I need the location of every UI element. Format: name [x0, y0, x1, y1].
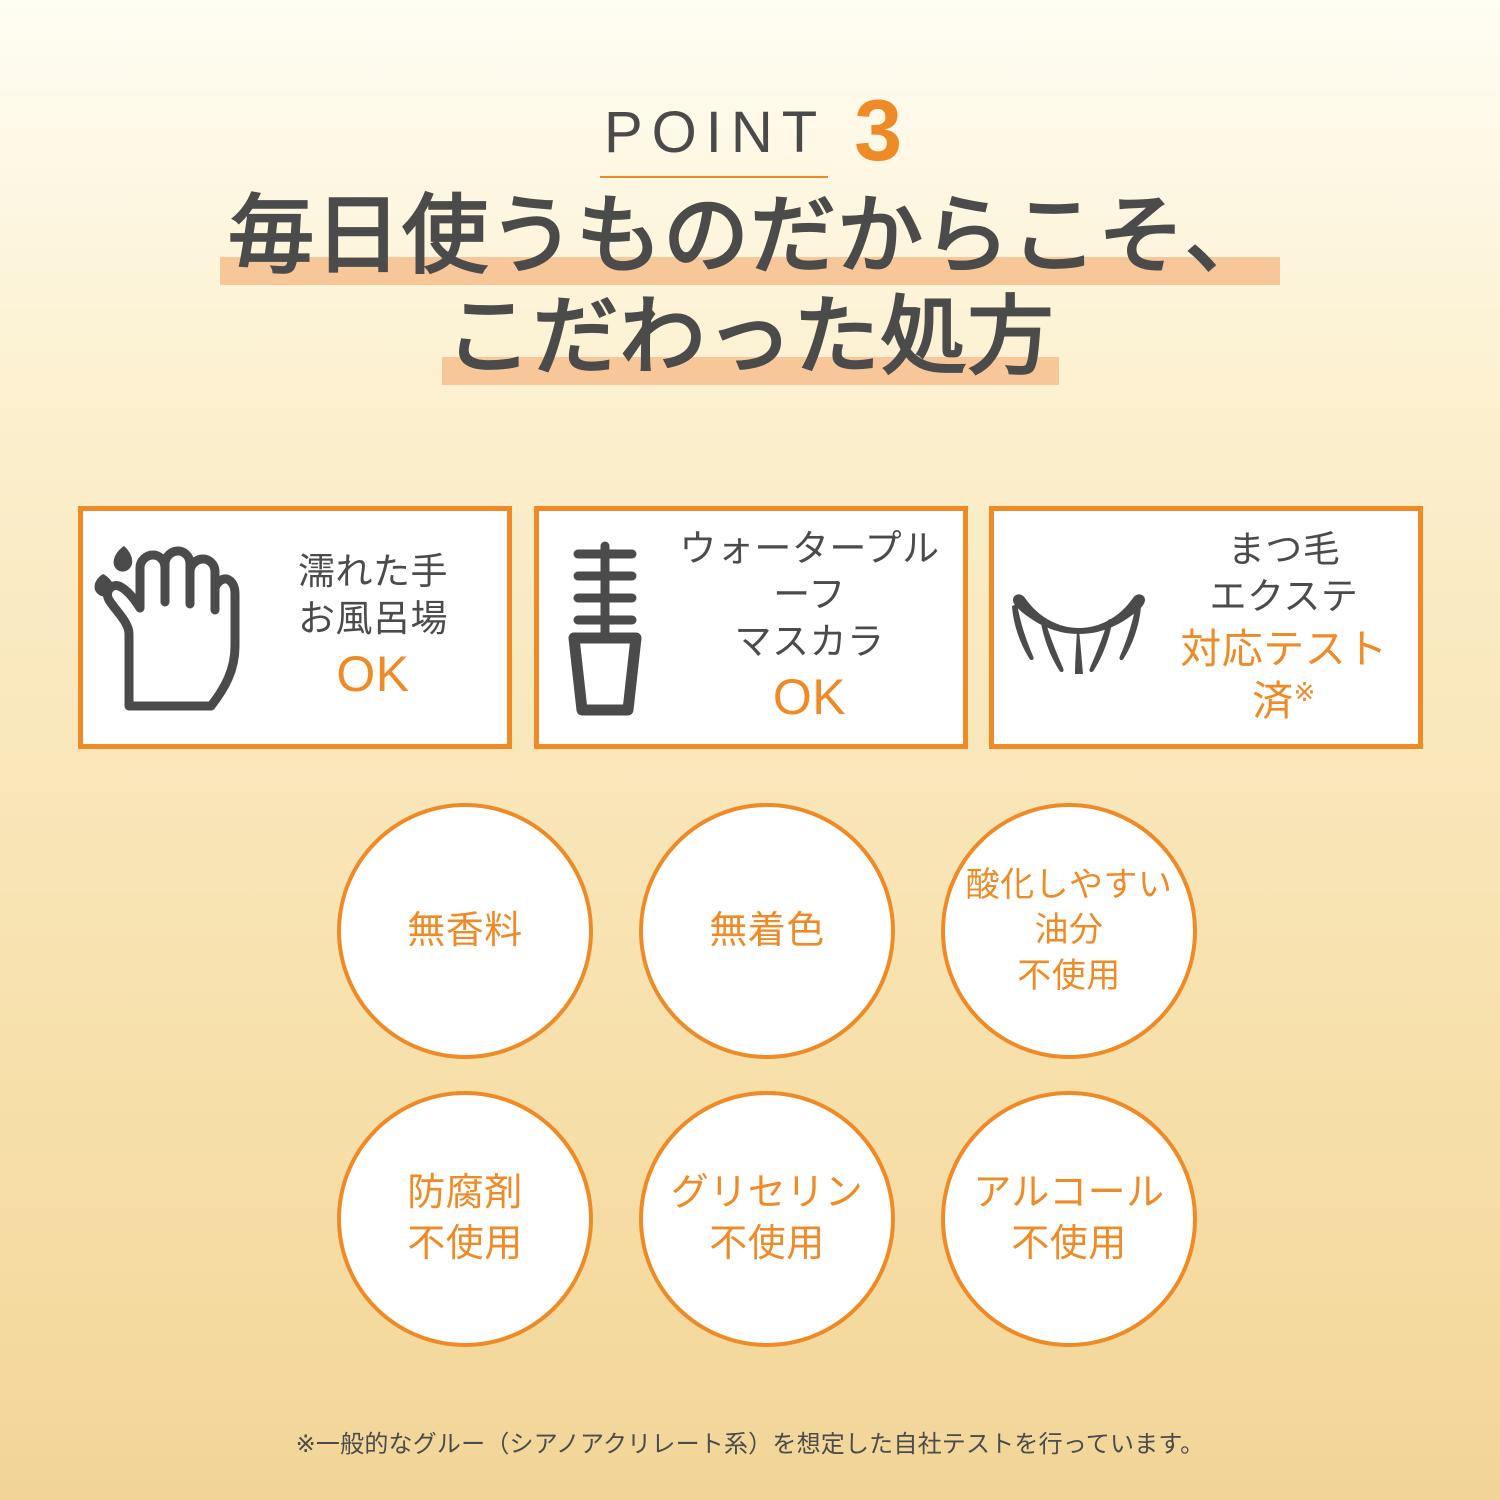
poster-canvas: POINT3 毎日使うものだからこそ、 こだわった処方 [0, 0, 1500, 1500]
footnote-text: ※一般的なグルー（シアノアクリレート系）を想定した自社テストを行っています。 [0, 1424, 1500, 1459]
footnote-marker: ※ [1294, 677, 1316, 707]
page-title: 毎日使うものだからこそ、 こだわった処方 [0, 186, 1500, 387]
feature-line-1: 濡れた手 [253, 549, 493, 596]
feature-box-waterproof-mascara: ウォータープルーフ マスカラ OK [534, 506, 968, 749]
circle-label: 無着色 [709, 906, 825, 957]
circle-colorant-free: 無着色 [639, 803, 895, 1059]
eyelash-icon [994, 582, 1164, 674]
circle-line: 不使用 [966, 954, 1173, 999]
circle-label: 無香料 [407, 906, 523, 957]
circle-glycerin-free: グリセリン 不使用 [639, 1091, 895, 1347]
headline-line-2: こだわった処方 [0, 287, 1500, 388]
feature-line-1: まつ毛 [1164, 527, 1404, 574]
feature-line-1: ウォータープルーフ [671, 526, 949, 619]
free-from-circle-grid: 無香料 無着色 酸化しやすい 油分 不使用 防腐剤 不使用 グリセリン [337, 803, 1197, 1343]
circle-line: 不使用 [973, 1219, 1164, 1270]
feature-box-eyelash-extension: まつ毛 エクステ 対応テスト済※ [989, 506, 1423, 749]
circle-label: アルコール 不使用 [973, 1168, 1164, 1269]
circle-line: 油分 [966, 908, 1173, 953]
point-label: POINT [598, 99, 832, 178]
circle-line: アルコール [973, 1168, 1164, 1219]
circle-line: 無香料 [407, 906, 523, 957]
feature-box-row: 濡れた手 お風呂場 OK ウォータープルー [78, 506, 1423, 749]
circle-line: 酸化しやすい [966, 863, 1173, 908]
circle-label: グリセリン 不使用 [671, 1168, 864, 1269]
headline-line-1-text: 毎日使うものだからこそ、 [228, 186, 1272, 287]
headline-line-1: 毎日使うものだからこそ、 [0, 186, 1500, 287]
circle-label: 防腐剤 不使用 [407, 1168, 523, 1269]
feature-status: 対応テスト済※ [1164, 624, 1404, 727]
feature-box-waterproof-mascara-text: ウォータープルーフ マスカラ OK [671, 526, 963, 730]
feature-line-2: お風呂場 [253, 596, 493, 643]
point-header: POINT3 [0, 88, 1500, 178]
circle-fragrance-free: 無香料 [337, 803, 593, 1059]
feature-box-wet-hand-text: 濡れた手 お風呂場 OK [253, 549, 507, 706]
feature-status: OK [671, 666, 949, 729]
circle-label: 酸化しやすい 油分 不使用 [966, 863, 1173, 999]
circle-oxidizing-oil-free: 酸化しやすい 油分 不使用 [941, 803, 1197, 1059]
feature-line-2: エクステ [1164, 574, 1404, 621]
circle-line: 不使用 [671, 1219, 864, 1270]
feature-status-text: 対応テスト済 [1180, 626, 1388, 724]
feature-status: OK [253, 643, 493, 706]
circle-line: 防腐剤 [407, 1168, 523, 1219]
circle-preservative-free: 防腐剤 不使用 [337, 1091, 593, 1347]
circle-line: 不使用 [407, 1219, 523, 1270]
feature-line-2: マスカラ [671, 619, 949, 666]
circle-line: グリセリン [671, 1168, 864, 1219]
mascara-wand-icon [539, 540, 671, 716]
point-number: 3 [854, 88, 902, 174]
feature-box-wet-hand: 濡れた手 お風呂場 OK [78, 506, 512, 749]
feature-box-eyelash-extension-text: まつ毛 エクステ 対応テスト済※ [1164, 527, 1418, 728]
circle-alcohol-free: アルコール 不使用 [941, 1091, 1197, 1347]
headline-line-2-text: こだわった処方 [446, 287, 1055, 388]
wet-hand-icon [83, 538, 253, 718]
circle-line: 無着色 [709, 906, 825, 957]
